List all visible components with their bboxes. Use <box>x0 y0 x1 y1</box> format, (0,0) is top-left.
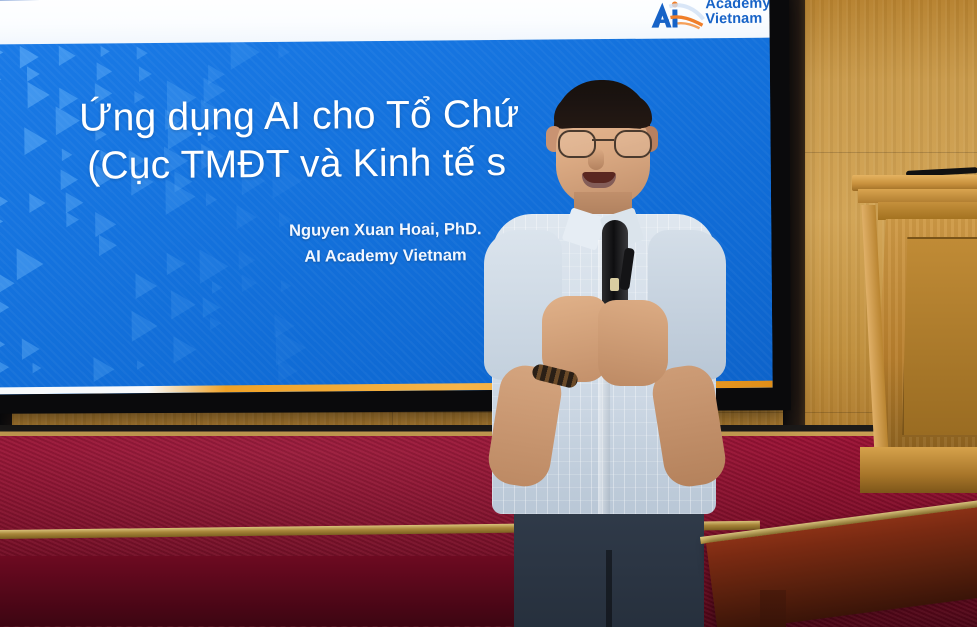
triangle-glyph <box>0 296 9 319</box>
triangle-glyph <box>94 357 115 382</box>
triangle-glyph <box>33 363 42 374</box>
presenter-mouth <box>582 172 616 188</box>
triangle-glyph <box>231 42 261 70</box>
triangle-glyph <box>22 338 40 360</box>
lectern-neck <box>878 202 977 220</box>
triangle-glyph <box>29 193 46 213</box>
wooden-lectern <box>866 175 977 505</box>
presenter-nose <box>588 148 604 170</box>
microphone-indicator <box>610 278 619 291</box>
logo-wordmark: Academy Vietnam <box>705 0 770 27</box>
triangle-glyph <box>0 196 8 207</box>
triangle-glyph <box>59 46 76 66</box>
triangle-glyph <box>212 281 223 294</box>
foreground-table-leg <box>760 590 786 627</box>
ai-academy-logo-icon <box>647 0 707 34</box>
triangle-glyph <box>0 42 4 65</box>
presentation-scene-photo: Academy Vietnam Ứng dụng AI cho Tổ Chứ (… <box>0 0 977 627</box>
presenter-trouser-seam <box>606 550 612 627</box>
lectern-top-moulding <box>858 189 977 203</box>
glasses-bridge <box>592 139 614 141</box>
triangle-glyph <box>0 71 1 88</box>
triangle-glyph <box>278 359 298 383</box>
triangle-glyph <box>65 192 83 213</box>
presenter-hair-front <box>554 94 652 128</box>
ai-academy-vietnam-logo: Academy Vietnam <box>647 0 765 37</box>
presenter-glasses-icon <box>556 130 652 154</box>
triangle-glyph <box>132 311 158 342</box>
triangle-glyph <box>0 271 14 296</box>
triangle-glyph <box>137 360 145 369</box>
triangle-glyph <box>96 62 112 81</box>
triangle-glyph <box>136 46 147 59</box>
triangle-glyph <box>173 336 196 363</box>
triangle-glyph <box>20 46 39 69</box>
glasses-lens-right <box>614 130 652 158</box>
triangle-glyph <box>27 66 40 81</box>
triangle-glyph <box>279 45 291 59</box>
presenter-hand-right <box>598 300 668 386</box>
triangle-glyph <box>203 297 221 318</box>
triangle-glyph <box>281 279 291 292</box>
triangle-glyph <box>210 317 221 330</box>
lectern-base <box>860 447 977 493</box>
triangle-glyph <box>139 66 152 82</box>
triangle-glyph <box>0 351 9 385</box>
triangle-glyph <box>171 290 196 320</box>
triangle-glyph <box>242 275 257 293</box>
logo-line-vietnam: Vietnam <box>705 11 770 26</box>
lectern-front-panel <box>902 237 977 437</box>
triangle-glyph <box>135 273 157 299</box>
triangle-glyph <box>206 193 217 207</box>
triangle-glyph <box>101 46 110 57</box>
